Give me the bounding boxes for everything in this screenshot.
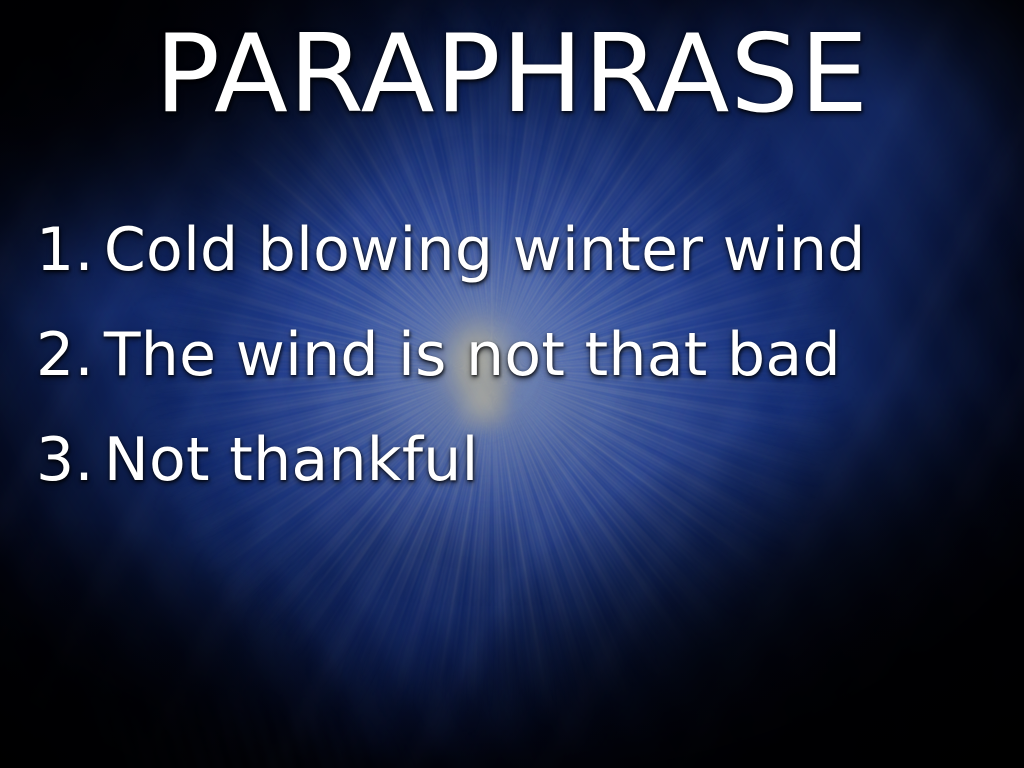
list-item-number: 2. [36, 320, 94, 390]
presentation-slide: PARAPHRASE 1.Cold blowing winter wind 2.… [0, 0, 1024, 768]
list-item-number: 3. [36, 425, 94, 495]
list-item: 3.Not thankful [36, 408, 1006, 513]
list-item-label: Not thankful [104, 425, 479, 495]
bullet-list: 1.Cold blowing winter wind 2.The wind is… [36, 198, 1006, 513]
slide-content: PARAPHRASE 1.Cold blowing winter wind 2.… [0, 0, 1024, 768]
list-item: 1.Cold blowing winter wind [36, 198, 1006, 303]
list-item: 2.The wind is not that bad [36, 303, 1006, 408]
list-item-label: The wind is not that bad [104, 320, 841, 390]
list-item-label: Cold blowing winter wind [104, 215, 866, 285]
slide-title: PARAPHRASE [0, 18, 1024, 132]
list-item-number: 1. [36, 215, 94, 285]
